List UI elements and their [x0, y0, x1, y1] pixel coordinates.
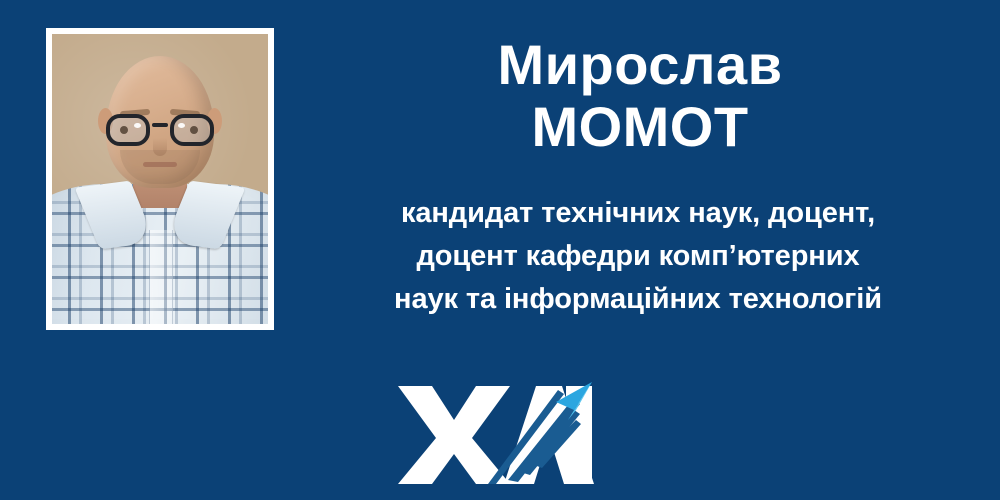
portrait-subject	[52, 34, 268, 324]
logo-letter-x	[398, 386, 510, 484]
person-title: кандидат технічних наук, доцент, доцент …	[288, 192, 988, 321]
first-name: Мирослав	[290, 34, 990, 96]
title-line-2: доцент кафедри комп’ютерних	[288, 235, 988, 278]
title-line-1: кандидат технічних наук, доцент,	[288, 192, 988, 235]
eyeglass-bridge	[152, 123, 168, 127]
portrait-photo	[52, 34, 268, 324]
last-name: МОМОТ	[290, 96, 990, 158]
lens-glare-right	[178, 123, 185, 128]
eyeglass-lens-left	[106, 114, 150, 146]
eyeglasses	[104, 114, 216, 148]
title-line-3: наук та інформаційних технологій	[288, 278, 988, 321]
person-name: Мирослав МОМОТ	[290, 34, 990, 158]
lens-glare-left	[134, 123, 141, 128]
portrait-photo-frame	[46, 28, 274, 330]
shirt-placket	[149, 230, 173, 324]
eye-left	[120, 126, 128, 134]
eye-right	[190, 126, 198, 134]
mouth	[143, 162, 177, 167]
profile-card: Мирослав МОМОТ кандидат технічних наук, …	[0, 0, 1000, 500]
xai-logo	[396, 380, 596, 488]
